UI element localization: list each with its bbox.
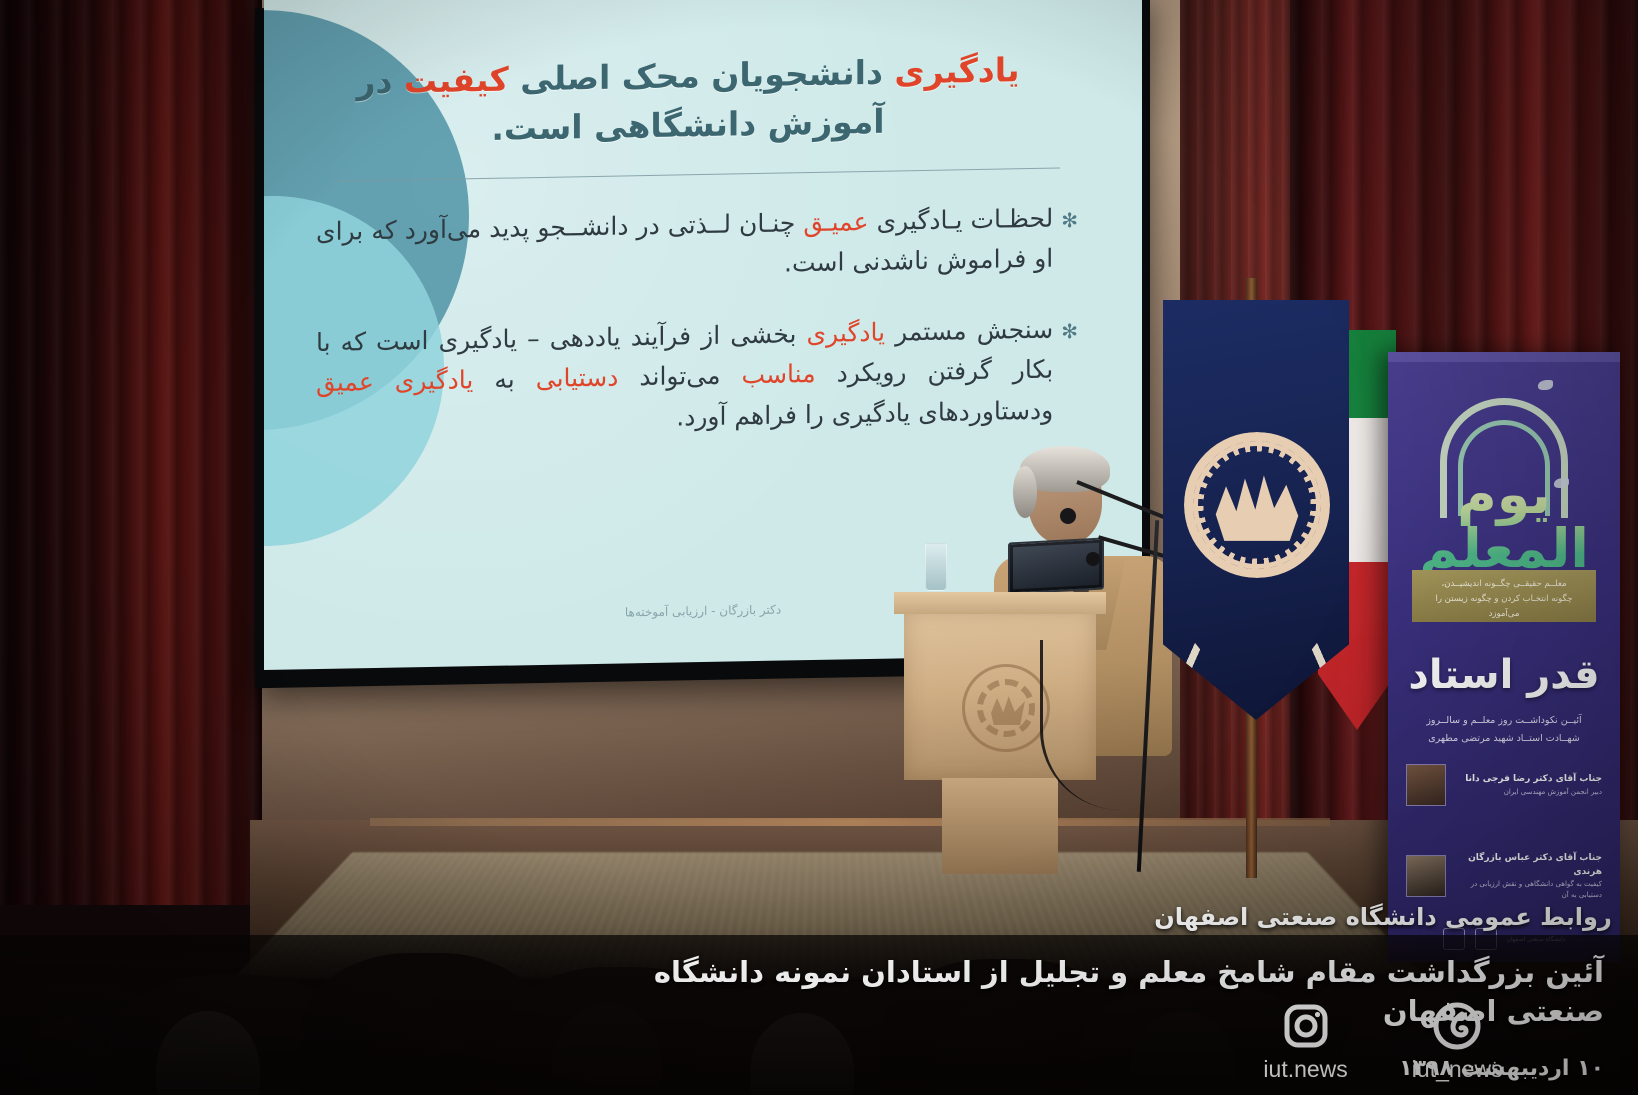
podium-emblem-icon — [962, 664, 1050, 752]
bullet-marker-icon: ✻ — [1061, 198, 1078, 279]
dove-icon — [1538, 380, 1553, 390]
rollup-speaker-1-info: جناب آقای دکتر رضا فرجی دانا دبیر انجمن … — [1454, 773, 1602, 797]
instagram-icon — [1282, 1002, 1330, 1050]
university-emblem-icon — [1184, 432, 1330, 578]
speaker-hair-side — [1013, 466, 1037, 518]
slide-bullet-1: ✻ لحظـات یـادگیری عمیـق چنـان لــذتی در … — [316, 198, 1078, 293]
rollup-title: قدر استاد — [1388, 652, 1620, 698]
social-soroush[interactable]: iut_news — [1412, 1002, 1503, 1083]
slide-bullet-1-text: لحظـات یـادگیری عمیـق چنـان لــذتی در دا… — [316, 198, 1053, 293]
social-handles: iut_news iut.news — [1128, 1002, 1638, 1083]
rollup-calligraphy-text: یوم المعلم — [1388, 468, 1620, 576]
laptop — [1008, 537, 1104, 594]
rollup-speaker-1-name: جناب آقای دکتر رضا فرجی دانا — [1454, 773, 1602, 787]
slide-bullet-2: ✻ سنجش مستمر یادگیری بخشی از فرآیند یادد… — [316, 309, 1078, 444]
public-relations-text: روابط عمومی دانشگاه صنعتی اصفهان — [1128, 903, 1638, 931]
social-instagram[interactable]: iut.news — [1263, 1002, 1347, 1083]
stage-curtain-left — [0, 0, 262, 905]
rollup-quote-line-1: معلــم حقیقــی چگــونه اندیشیــدن، — [1420, 577, 1588, 592]
rollup-quote-line-2: چگونه انتخـاب کردن و چگونه زیستن را می‌آ… — [1420, 592, 1588, 622]
rollup-top-bar — [1388, 352, 1620, 362]
rollup-subtitle-line-2: شهــادت استــاد شهید مرتضی مطهری — [1410, 730, 1598, 748]
microphone-head-icon — [1060, 508, 1076, 524]
slide-bullet-2-text: سنجش مستمر یادگیری بخشی از فرآیند یاددهی… — [316, 309, 1053, 444]
rollup-subtitle: آئیــن نکوداشــت روز معلــم و سالــروز ش… — [1410, 712, 1598, 747]
bullet-marker-icon: ✻ — [1061, 309, 1078, 431]
public-relations-block: روابط عمومی دانشگاه صنعتی اصفهان iut_new… — [1128, 935, 1638, 1095]
instagram-handle: iut.news — [1263, 1056, 1347, 1083]
slide-title-divider — [334, 167, 1060, 181]
podium-top-surface — [894, 592, 1106, 614]
water-glass — [925, 543, 947, 591]
photo-canvas: یادگیری دانشجویان محک اصلی کیفیت در آموز… — [0, 0, 1638, 1095]
dove-icon — [1554, 478, 1569, 488]
rollup-quote-plate: معلــم حقیقــی چگــونه اندیشیــدن، چگونه… — [1412, 570, 1596, 622]
laptop-screen — [1013, 543, 1099, 590]
caption-bar: آئین بزرگداشت مقام شامخ معلم و تجلیل از … — [0, 935, 1638, 1095]
microphone-head-secondary-icon — [1086, 552, 1100, 566]
soroush-handle: iut_news — [1412, 1056, 1503, 1083]
soroush-icon — [1433, 1002, 1481, 1050]
slide-title: یادگیری دانشجویان محک اصلی کیفیت در آموز… — [310, 45, 1066, 157]
rollup-subtitle-line-1: آئیــن نکوداشــت روز معلــم و سالــروز — [1410, 712, 1598, 730]
